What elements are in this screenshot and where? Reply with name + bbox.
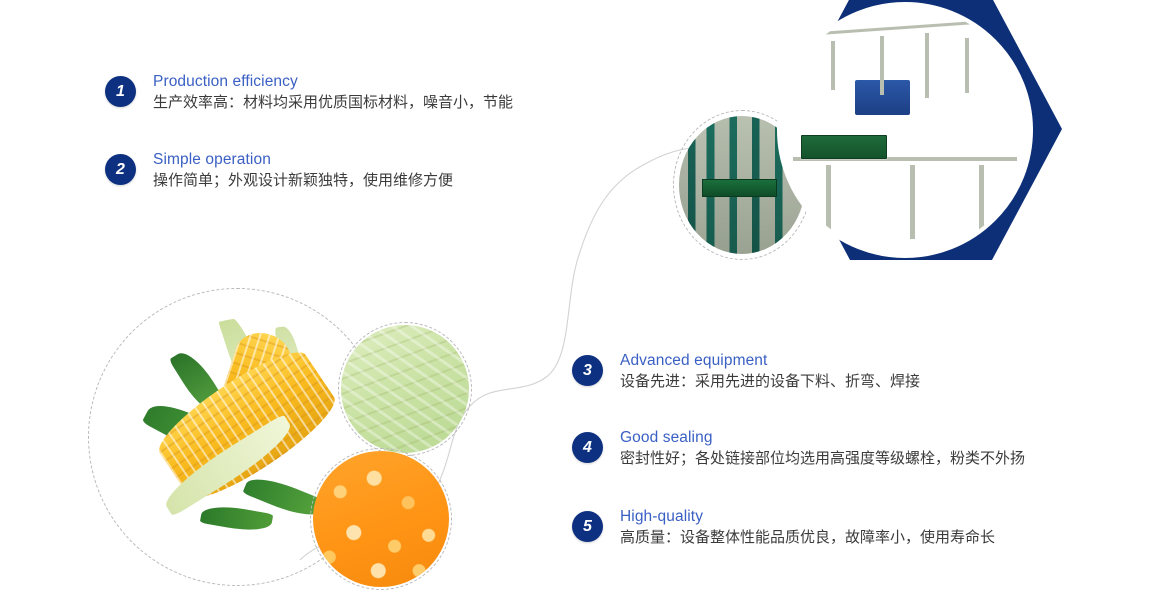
feature-title-en-3: Advanced equipment bbox=[620, 351, 920, 371]
feature-item-2[interactable]: 2 Simple operation 操作简单；外观设计新颖独特，使用维修方便 bbox=[105, 154, 453, 192]
mill-detail-overlay bbox=[781, 6, 1029, 254]
grits-photo bbox=[313, 451, 449, 587]
green-paste-photo bbox=[341, 325, 469, 453]
feature-text-1: Production efficiency 生产效率高：材料均采用优质国标材料，… bbox=[153, 72, 513, 114]
feature-text-3: Advanced equipment 设备先进：采用先进的设备下料、折弯、焊接 bbox=[620, 351, 920, 393]
flour-milling-plant-photo bbox=[781, 6, 1029, 254]
feature-number-badge-3: 3 bbox=[572, 355, 603, 386]
feature-number-badge-5: 5 bbox=[572, 511, 603, 542]
feature-item-1[interactable]: 1 Production efficiency 生产效率高：材料均采用优质国标材… bbox=[105, 76, 513, 114]
infographic-stage: 1 Production efficiency 生产效率高：材料均采用优质国标材… bbox=[0, 0, 1154, 591]
feature-title-en-2: Simple operation bbox=[153, 150, 453, 170]
feature-title-cn-5: 高质量：设备整体性能品质优良，故障率小，使用寿命长 bbox=[620, 527, 995, 549]
feature-title-cn-4: 密封性好；各处链接部位均选用高强度等级螺栓，粉类不外扬 bbox=[620, 448, 1025, 470]
feature-title-cn-2: 操作简单；外观设计新颖独特，使用维修方便 bbox=[153, 170, 453, 192]
feature-text-2: Simple operation 操作简单；外观设计新颖独特，使用维修方便 bbox=[153, 150, 453, 192]
feature-title-en-5: High-quality bbox=[620, 507, 995, 527]
feature-title-cn-1: 生产效率高：材料均采用优质国标材料，噪音小，节能 bbox=[153, 92, 513, 114]
feature-number-badge-1: 1 bbox=[105, 76, 136, 107]
mill-main-photo bbox=[777, 2, 1033, 258]
feature-number-badge-2: 2 bbox=[105, 154, 136, 185]
feature-title-en-1: Production efficiency bbox=[153, 72, 513, 92]
feature-item-4[interactable]: 4 Good sealing 密封性好；各处链接部位均选用高强度等级螺栓，粉类不… bbox=[572, 432, 1025, 470]
corn-grits-photo bbox=[313, 451, 449, 587]
corn-flour-paste-photo bbox=[341, 325, 469, 453]
feature-title-en-4: Good sealing bbox=[620, 428, 1025, 448]
feature-number-badge-4: 4 bbox=[572, 432, 603, 463]
feature-item-5[interactable]: 5 High-quality 高质量：设备整体性能品质优良，故障率小，使用寿命长 bbox=[572, 511, 995, 549]
feature-text-4: Good sealing 密封性好；各处链接部位均选用高强度等级螺栓，粉类不外扬 bbox=[620, 428, 1025, 470]
feature-title-cn-3: 设备先进：采用先进的设备下料、折弯、焊接 bbox=[620, 371, 920, 393]
corn-leaf bbox=[200, 502, 274, 535]
feature-item-3[interactable]: 3 Advanced equipment 设备先进：采用先进的设备下料、折弯、焊… bbox=[572, 355, 920, 393]
feature-text-5: High-quality 高质量：设备整体性能品质优良，故障率小，使用寿命长 bbox=[620, 507, 995, 549]
